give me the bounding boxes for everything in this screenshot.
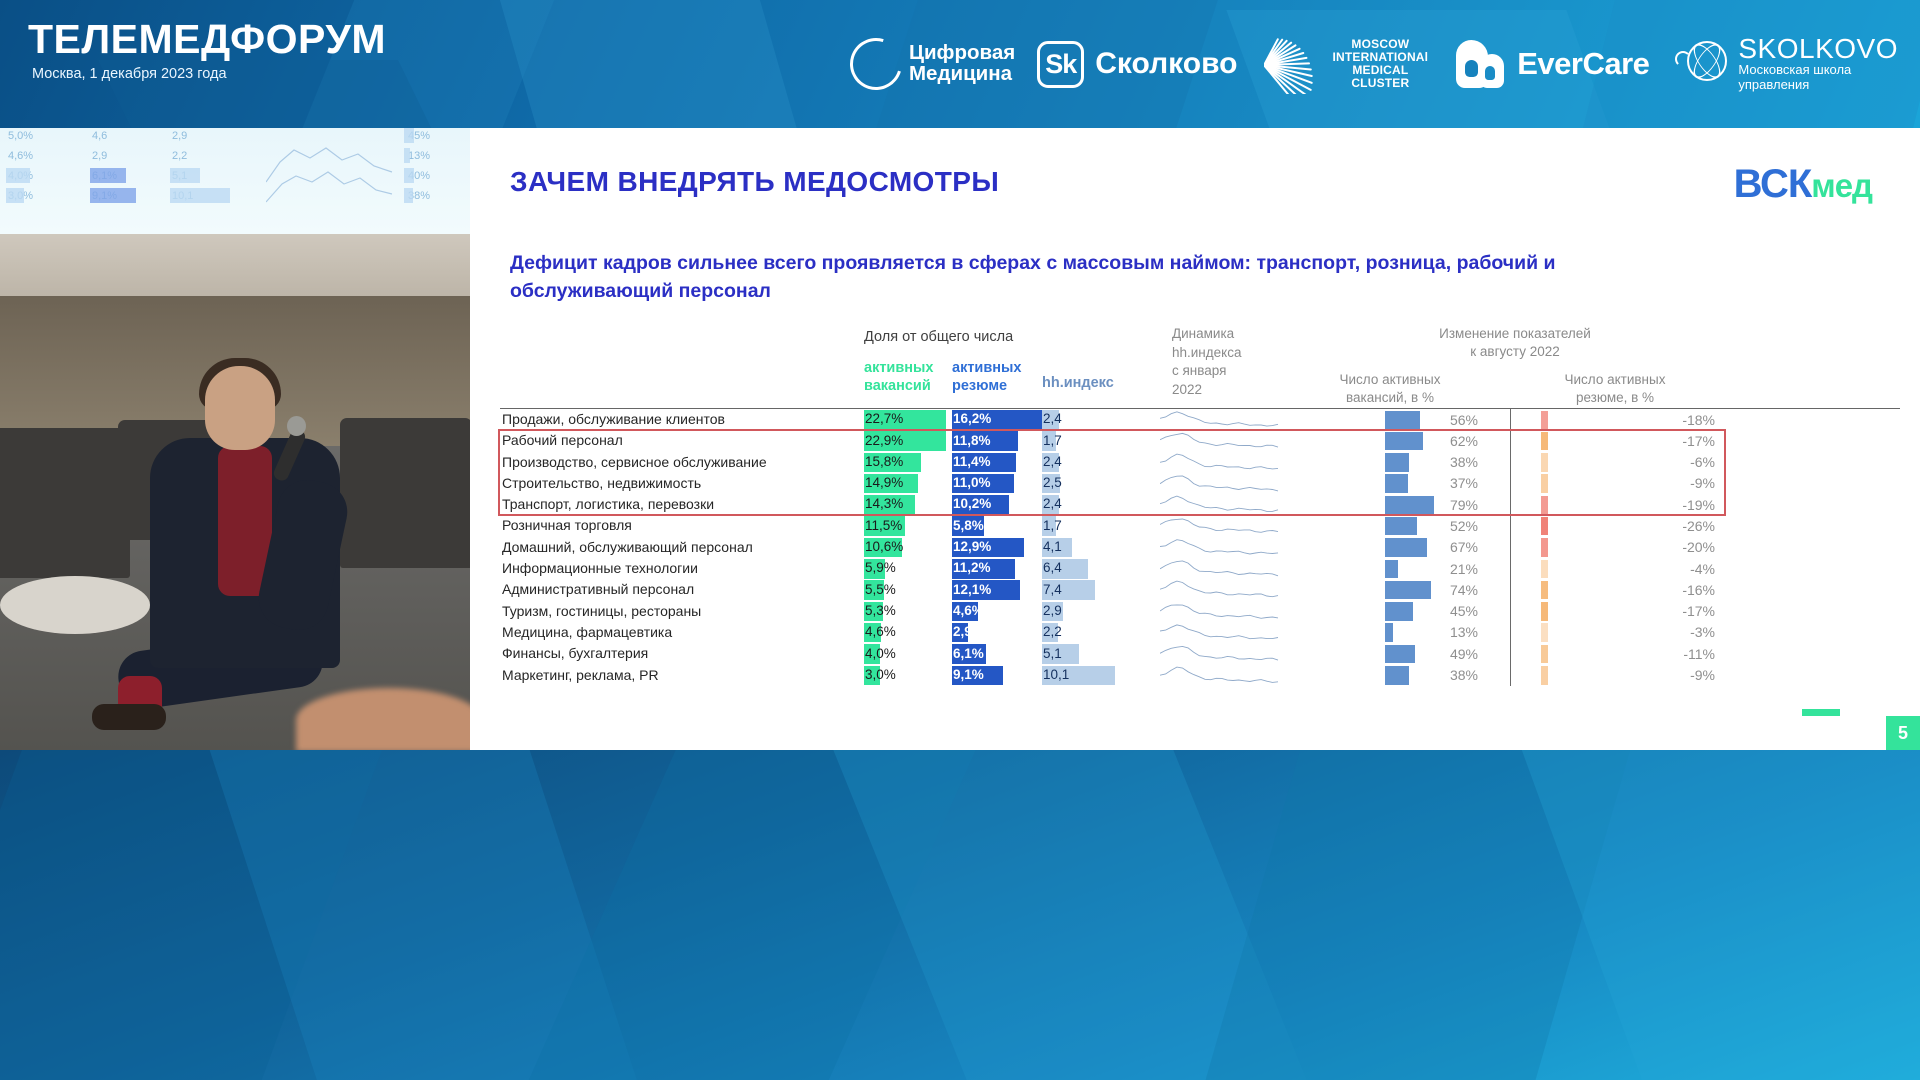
value-change-vacancies: 49%: [1450, 646, 1478, 662]
cell-change-resumes: -11%: [1510, 643, 1725, 664]
value-change-resumes: -4%: [1690, 561, 1715, 577]
logo-digital-medicine: Цифровая Медицина: [850, 0, 1037, 128]
value-change-resumes: -6%: [1690, 454, 1715, 470]
vsk-blue: ВСК: [1734, 162, 1812, 206]
cell-change-vacancies: 62%: [1290, 430, 1490, 451]
cell-change-vacancies: 45%: [1290, 601, 1490, 622]
value-change-resumes: -26%: [1682, 518, 1715, 534]
cell-change-resumes: -4%: [1510, 558, 1725, 579]
page-number: 5: [1886, 716, 1920, 750]
bar-change-resumes: [1541, 474, 1548, 493]
value-hh: 10,1: [1043, 667, 1069, 682]
cell-change-resumes: -26%: [1510, 515, 1725, 536]
bar-change-resumes: [1541, 623, 1548, 642]
value-change-vacancies: 79%: [1450, 497, 1478, 513]
sparkline-dynamics: [1160, 559, 1280, 578]
bar-change-vacancies: [1385, 538, 1427, 557]
row-label: Информационные технологии: [502, 560, 698, 576]
vsk-med-logo: ВСКмед: [1734, 164, 1872, 204]
cell-change-vacancies: 38%: [1290, 452, 1490, 473]
value-resumes: 12,9%: [953, 539, 991, 554]
value-change-resumes: -16%: [1682, 582, 1715, 598]
row-label: Строительство, недвижимость: [502, 475, 701, 491]
header-share-group: Доля от общего числа: [864, 329, 1013, 345]
row-label: Финансы, бухгалтерия: [502, 645, 648, 661]
table-row[interactable]: Домашний, обслуживающий персонал10,6%12,…: [500, 537, 1900, 558]
value-vacancies: 3,0%: [865, 667, 896, 682]
value-hh: 5,1: [1043, 646, 1062, 661]
value-resumes: 9,1%: [953, 667, 984, 682]
bar-change-vacancies: [1385, 581, 1431, 600]
value-vacancies: 14,9%: [865, 475, 903, 490]
value-hh: 1,7: [1043, 518, 1062, 533]
value-vacancies: 15,8%: [865, 454, 903, 469]
value-vacancies: 14,3%: [865, 496, 903, 511]
presentation-slide: ЗАЧЕМ ВНЕДРЯТЬ МЕДОСМОТРЫ ВСКмед Дефицит…: [470, 128, 1920, 750]
cell-change-vacancies: 13%: [1290, 622, 1490, 643]
value-change-vacancies: 67%: [1450, 539, 1478, 555]
bar-change-vacancies: [1385, 645, 1415, 664]
value-vacancies: 4,6%: [865, 624, 896, 639]
cell-change-vacancies: 74%: [1290, 579, 1490, 600]
value-vacancies: 4,0%: [865, 646, 896, 661]
banner-shard: [500, 0, 800, 128]
table-row[interactable]: Рабочий персонал22,9%11,8%1,762%-17%: [500, 430, 1900, 451]
header-change-group: Изменение показателейк августу 2022: [1290, 325, 1740, 361]
cell-change-vacancies: 37%: [1290, 473, 1490, 494]
value-hh: 7,4: [1043, 582, 1062, 597]
value-change-vacancies: 21%: [1450, 561, 1478, 577]
mimc-text: MOSCOW INTERNATIONAl MEDICAL CLUSTER: [1333, 38, 1429, 90]
mimc-line4: CLUSTER: [1333, 77, 1429, 90]
table-row[interactable]: Производство, сервисное обслуживание15,8…: [500, 452, 1900, 473]
bar-change-resumes: [1541, 581, 1548, 600]
table-row[interactable]: Розничная торговля11,5%5,8%1,752%-26%: [500, 515, 1900, 536]
value-vacancies: 22,7%: [865, 411, 903, 426]
sparkline-dynamics: [1160, 602, 1280, 621]
value-change-vacancies: 45%: [1450, 603, 1478, 619]
table-row[interactable]: Продажи, обслуживание клиентов22,7%16,2%…: [500, 409, 1900, 430]
bar-change-resumes: [1541, 453, 1548, 472]
header-line: Число активных: [1510, 371, 1720, 389]
table-header: Доля от общего числа активных вакансий а…: [500, 323, 1900, 408]
hv1: активных: [864, 359, 933, 377]
chair: [340, 418, 470, 568]
bar-change-resumes: [1541, 560, 1548, 579]
bar-change-vacancies: [1385, 602, 1413, 621]
bottom-decoration: [0, 750, 1920, 1080]
row-label: Продажи, обслуживание клиентов: [502, 411, 725, 427]
row-label: Медицина, фармацевтика: [502, 624, 672, 640]
bar-change-resumes: [1541, 602, 1548, 621]
table-row[interactable]: Медицина, фармацевтика4,6%2,92,213%-3%: [500, 622, 1900, 643]
msu-text: SKOLKOVO Московская школа управления: [1738, 35, 1898, 92]
digital-medicine-text: Цифровая Медицина: [909, 43, 1015, 85]
globe-icon: [1675, 39, 1729, 89]
row-label: Рабочий персонал: [502, 432, 623, 448]
cell-change-resumes: -17%: [1510, 430, 1725, 451]
value-resumes: 4,6%: [953, 603, 984, 618]
value-hh: 6,4: [1043, 560, 1062, 575]
header-line: 2022: [1172, 381, 1241, 400]
hr1: активных: [952, 359, 1021, 377]
cell-change-resumes: -6%: [1510, 452, 1725, 473]
cell-change-vacancies: 21%: [1290, 558, 1490, 579]
value-change-resumes: -18%: [1682, 412, 1715, 428]
sparkline-dynamics: [1160, 644, 1280, 663]
table-row[interactable]: Транспорт, логистика, перевозки14,3%10,2…: [500, 494, 1900, 515]
table-row[interactable]: Финансы, бухгалтерия4,0%6,1%5,149%-11%: [500, 643, 1900, 664]
value-vacancies: 10,6%: [865, 539, 903, 554]
value-resumes: 11,4%: [953, 454, 991, 469]
value-hh: 2,9: [1043, 603, 1062, 618]
bar-change-vacancies: [1385, 517, 1417, 536]
slide-lead-text: Дефицит кадров сильнее всего проявляется…: [510, 250, 1580, 305]
sparkline-dynamics: [1160, 453, 1280, 472]
bar-change-vacancies: [1385, 666, 1409, 685]
sparkline-dynamics: [1160, 474, 1280, 493]
table-body: Продажи, обслуживание клиентов22,7%16,2%…: [500, 408, 1900, 686]
dm-line2: Медицина: [909, 64, 1015, 85]
sparkline-dynamics: [1160, 410, 1280, 429]
logo-evercare: EverCare: [1452, 0, 1675, 128]
sparkline-dynamics: [1160, 580, 1280, 599]
value-change-resumes: -9%: [1690, 475, 1715, 491]
bar-change-resumes: [1541, 538, 1548, 557]
cell-change-vacancies: 79%: [1290, 494, 1490, 515]
slide-title: ЗАЧЕМ ВНЕДРЯТЬ МЕДОСМОТРЫ: [510, 166, 999, 198]
event-banner: ТЕЛЕМЕДФОРУМ Москва, 1 декабря 2023 года…: [0, 0, 1920, 128]
speaker-video: 5,0% 4,6% 4,0% 3,0% 4,6 2,9 6,1% 9,1% 2,…: [0, 128, 470, 750]
table-row[interactable]: Строительство, недвижимость14,9%11,0%2,5…: [500, 473, 1900, 494]
value-vacancies: 11,5%: [865, 518, 902, 533]
chair: [0, 428, 130, 578]
header-change-vacancies: Число активныхвакансий, в %: [1290, 371, 1490, 406]
cell-change-resumes: -16%: [1510, 579, 1725, 600]
value-vacancies: 5,3%: [865, 603, 896, 618]
fan-icon: [1264, 34, 1326, 94]
header-active-resumes: активных резюме: [952, 359, 1021, 395]
bar-change-vacancies: [1385, 474, 1408, 493]
value-hh: 2,4: [1043, 496, 1062, 511]
sparkline-dynamics: [1160, 666, 1280, 685]
bar-change-resumes: [1541, 517, 1548, 536]
bar-change-resumes: [1541, 411, 1548, 430]
footer-dash: [1802, 709, 1840, 716]
vsk-green: мед: [1811, 167, 1872, 204]
header-line: резюме, в %: [1510, 389, 1720, 407]
value-change-resumes: -17%: [1682, 603, 1715, 619]
value-resumes: 5,8%: [953, 518, 984, 533]
header-line: Изменение показателей: [1290, 325, 1740, 343]
cell-change-resumes: -3%: [1510, 622, 1725, 643]
dm-line1: Цифровая: [909, 43, 1015, 64]
foreground-audience: [296, 688, 470, 750]
sparkline-dynamics: [1160, 516, 1280, 535]
value-change-resumes: -3%: [1690, 624, 1715, 640]
value-change-vacancies: 38%: [1450, 667, 1478, 683]
value-hh: 1,7: [1043, 433, 1062, 448]
birds-icon: [1452, 38, 1508, 90]
header-active-vacancies: активных вакансий: [864, 359, 933, 395]
msu-line2: управления: [1738, 78, 1898, 93]
value-change-resumes: -19%: [1682, 497, 1715, 513]
header-line: к августу 2022: [1290, 343, 1740, 361]
logo-skolkovo-school: SKOLKOVO Московская школа управления: [1675, 0, 1914, 128]
bar-change-resumes: [1541, 666, 1548, 685]
header-hh-index: hh.индекс: [1042, 375, 1114, 391]
value-hh: 2,4: [1043, 454, 1062, 469]
projected-screen: 5,0% 4,6% 4,0% 3,0% 4,6 2,9 6,1% 9,1% 2,…: [0, 128, 470, 234]
bar-change-vacancies: [1385, 411, 1420, 430]
value-change-resumes: -17%: [1682, 433, 1715, 449]
table-row[interactable]: Административный персонал5,5%12,1%7,474%…: [500, 579, 1900, 600]
sparkline-dynamics: [1160, 431, 1280, 450]
cell-change-vacancies: 67%: [1290, 537, 1490, 558]
value-vacancies: 5,9%: [865, 560, 896, 575]
value-vacancies: 22,9%: [865, 433, 903, 448]
table-row[interactable]: Маркетинг, реклама, PR3,0%9,1%10,138%-9%: [500, 665, 1900, 686]
sparkline-dynamics: [1160, 623, 1280, 642]
event-title: ТЕЛЕМЕДФОРУМ: [28, 16, 386, 63]
value-hh: 2,2: [1043, 624, 1062, 639]
data-table: Доля от общего числа активных вакансий а…: [500, 323, 1900, 686]
cell-change-resumes: -20%: [1510, 537, 1725, 558]
sk-badge-icon: Sk: [1037, 41, 1084, 88]
header-line: Число активных: [1290, 371, 1490, 389]
value-resumes: 11,2%: [953, 560, 991, 575]
value-change-vacancies: 38%: [1450, 454, 1478, 470]
cell-change-vacancies: 56%: [1290, 409, 1490, 430]
value-vacancies: 5,5%: [865, 582, 896, 597]
value-resumes: 16,2%: [953, 411, 991, 426]
logo-moscow-medical-cluster: MOSCOW INTERNATIONAl MEDICAL CLUSTER: [1264, 0, 1453, 128]
value-resumes: 11,0%: [953, 475, 991, 490]
cell-change-vacancies: 49%: [1290, 643, 1490, 664]
round-table: [0, 576, 150, 634]
bar-change-resumes: [1541, 645, 1548, 664]
value-hh: 2,4: [1043, 411, 1062, 426]
header-line: Динамика: [1172, 325, 1241, 344]
value-change-vacancies: 13%: [1450, 624, 1478, 640]
cell-change-vacancies: 38%: [1290, 665, 1490, 686]
slide-screenshot: ТЕЛЕМЕДФОРУМ Москва, 1 декабря 2023 года…: [0, 0, 1920, 1080]
row-label: Маркетинг, реклама, PR: [502, 667, 659, 683]
value-change-vacancies: 37%: [1450, 475, 1478, 491]
value-resumes: 12,1%: [953, 582, 991, 597]
row-label: Розничная торговля: [502, 517, 632, 533]
event-subtitle: Москва, 1 декабря 2023 года: [32, 66, 227, 82]
room-wall: [0, 234, 470, 296]
value-change-vacancies: 56%: [1450, 412, 1478, 428]
cell-change-resumes: -17%: [1510, 601, 1725, 622]
header-line: hh.индекса: [1172, 344, 1241, 363]
bar-change-vacancies: [1385, 432, 1423, 451]
cell-change-resumes: -9%: [1510, 665, 1725, 686]
partner-logos: Цифровая Медицина Sk Сколково MOSCOW INT…: [850, 0, 1914, 128]
table-row[interactable]: Туризм, гостиницы, рестораны5,3%4,6%2,94…: [500, 601, 1900, 622]
bar-change-vacancies: [1385, 496, 1434, 515]
cell-change-resumes: -19%: [1510, 494, 1725, 515]
header-line: с января: [1172, 362, 1241, 381]
bar-change-vacancies: [1385, 560, 1398, 579]
row-label: Административный персонал: [502, 581, 694, 597]
arc-icon: [841, 29, 911, 99]
value-resumes: 10,2%: [953, 496, 991, 511]
value-change-resumes: -11%: [1683, 646, 1715, 662]
value-change-vacancies: 52%: [1450, 518, 1478, 534]
value-change-resumes: -20%: [1682, 539, 1715, 555]
row-label: Производство, сервисное обслуживание: [502, 454, 767, 470]
cell-change-vacancies: 52%: [1290, 515, 1490, 536]
header-dynamics: Динамикаhh.индексас января2022: [1172, 325, 1241, 400]
bar-change-vacancies: [1385, 453, 1409, 472]
skolkovo-word: Сколково: [1095, 47, 1237, 81]
cell-change-resumes: -18%: [1510, 409, 1725, 430]
bar-change-vacancies: [1385, 623, 1393, 642]
msu-line1: Московская школа: [1738, 63, 1898, 78]
value-hh: 2,5: [1043, 475, 1062, 490]
sparkline-dynamics: [1160, 538, 1280, 557]
row-label: Домашний, обслуживающий персонал: [502, 539, 753, 555]
mimc-line3: MEDICAL: [1333, 64, 1429, 77]
value-change-resumes: -9%: [1690, 667, 1715, 683]
table-row[interactable]: Информационные технологии5,9%11,2%6,421%…: [500, 558, 1900, 579]
sparkline-dynamics: [1160, 495, 1280, 514]
msu-title: SKOLKOVO: [1738, 35, 1898, 63]
value-hh: 4,1: [1043, 539, 1062, 554]
logo-skolkovo: Sk Сколково: [1037, 0, 1263, 128]
row-label: Туризм, гостиницы, рестораны: [502, 603, 701, 619]
value-change-vacancies: 62%: [1450, 433, 1478, 449]
row-label: Транспорт, логистика, перевозки: [502, 496, 714, 512]
value-resumes: 11,8%: [953, 433, 991, 448]
bar-change-resumes: [1541, 432, 1548, 451]
evercare-word: EverCare: [1517, 46, 1649, 82]
header-line: вакансий, в %: [1290, 389, 1490, 407]
value-change-vacancies: 74%: [1450, 582, 1478, 598]
header-change-resumes: Число активныхрезюме, в %: [1510, 371, 1720, 406]
value-resumes: 6,1%: [953, 646, 984, 661]
cell-change-resumes: -9%: [1510, 473, 1725, 494]
hv2: вакансий: [864, 377, 933, 395]
value-resumes: 2,9: [953, 624, 972, 639]
hr2: резюме: [952, 377, 1021, 395]
bar-change-resumes: [1541, 496, 1548, 515]
